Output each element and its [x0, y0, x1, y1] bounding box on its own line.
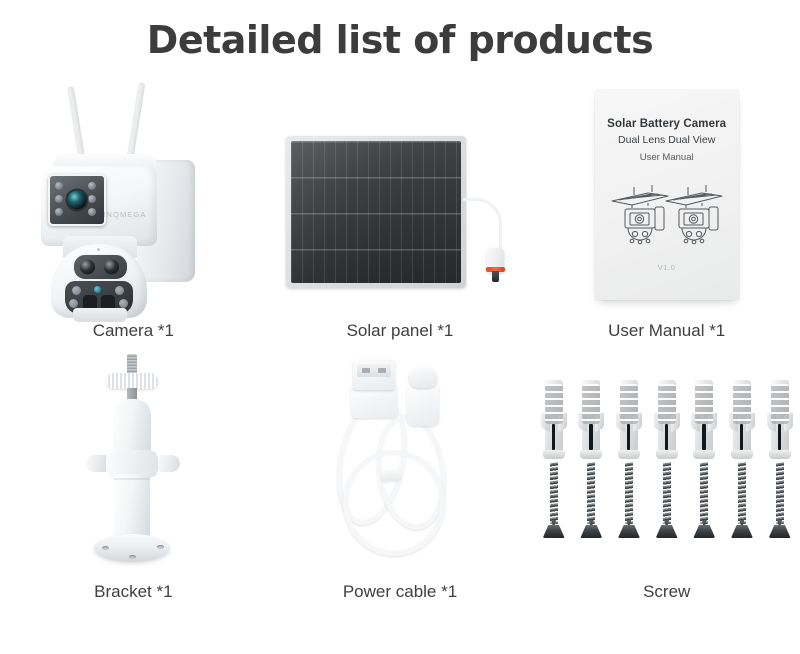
screw-shaft-icon — [776, 462, 784, 524]
anchor-ribs — [733, 384, 751, 424]
camera-status-dot-icon — [97, 248, 100, 251]
anchor-slot — [589, 424, 593, 450]
product-item-power-cable[interactable]: Power cable *1 — [267, 348, 534, 610]
bracket-mount-hole-icon — [157, 545, 164, 549]
anchor-collar — [656, 450, 678, 459]
anchor-collar — [693, 450, 715, 459]
ir-led-blue-icon — [94, 286, 101, 293]
screw-shaft-icon — [663, 462, 671, 524]
product-row-2: Bracket *1 Power cable *1 — [0, 348, 800, 610]
caption-power-cable: Power cable *1 — [343, 576, 457, 610]
screw-shaft-icon — [625, 462, 633, 524]
screw-head — [618, 525, 640, 538]
product-row-1: INQMEGA — [0, 78, 800, 348]
ir-led-icon — [88, 195, 96, 203]
screw-shaft-icon — [587, 462, 595, 524]
anchor-slot — [740, 424, 744, 450]
screw-unit — [654, 380, 680, 542]
screw-unit — [767, 380, 793, 542]
screw-unit — [578, 380, 604, 542]
bracket-mount-hole-icon — [102, 546, 109, 550]
camera-base — [73, 308, 127, 322]
product-item-solar-panel[interactable]: Solar panel *1 — [267, 78, 534, 348]
power-cable-illustration — [325, 354, 475, 564]
camera-lens-left-icon — [80, 260, 95, 275]
product-item-bracket[interactable]: Bracket *1 — [0, 348, 267, 610]
bracket-image — [0, 348, 267, 576]
user-manual-illustration: Solar Battery Camera Dual Lens Dual View… — [577, 90, 757, 312]
caption-user-manual: User Manual *1 — [608, 316, 725, 348]
anchor-collar — [580, 450, 602, 459]
anchor-collar — [618, 450, 640, 459]
manual-version-label: V1.0 — [595, 263, 739, 272]
manual-title-line3: User Manual — [640, 152, 694, 163]
bracket-illustration — [68, 354, 198, 566]
anchor-ribs — [771, 384, 789, 424]
ir-led-icon — [115, 286, 124, 295]
bracket-wing-knob-left — [86, 455, 108, 472]
anchor-slot — [627, 424, 631, 450]
manual-title-line1: Solar Battery Camera — [607, 118, 726, 130]
solar-panel-sheen — [291, 141, 461, 283]
bracket-seam — [114, 478, 150, 480]
cable-tie-band — [380, 469, 401, 482]
screw-shaft-icon — [700, 462, 708, 524]
anchor-collar — [769, 450, 791, 459]
camera-main-lens-icon — [68, 191, 87, 210]
bracket-mount-hole-icon — [129, 555, 136, 559]
screw-image — [533, 348, 800, 576]
product-item-screw[interactable]: Screw — [533, 348, 800, 610]
ir-led-icon — [88, 182, 96, 190]
ir-led-icon — [119, 299, 128, 308]
ir-led-icon — [55, 182, 63, 190]
anchor-slot — [702, 424, 706, 450]
screw-unit — [616, 380, 642, 542]
anchor-slot — [552, 424, 556, 450]
screw-shaft-icon — [550, 462, 558, 524]
ir-led-icon — [88, 208, 96, 216]
usb-a-connector-icon — [353, 360, 395, 390]
bracket-knurled-ring — [106, 373, 158, 389]
camera-illustration: INQMEGA — [33, 78, 233, 318]
usb-c-housing — [407, 384, 439, 426]
screw-head — [731, 525, 753, 538]
screw-head — [656, 525, 678, 538]
page-title: Detailed list of products — [0, 18, 800, 62]
screw-head — [693, 525, 715, 538]
bracket-column — [114, 474, 150, 540]
solar-camera-line-art-icon — [608, 179, 726, 251]
screw-unit — [729, 380, 755, 542]
screw-shaft-icon — [738, 462, 746, 524]
bracket-neck — [113, 399, 151, 455]
screw-head — [543, 525, 565, 538]
product-grid: INQMEGA — [0, 78, 800, 610]
product-item-user-manual[interactable]: Solar Battery Camera Dual Lens Dual View… — [533, 78, 800, 348]
anchor-slot — [665, 424, 669, 450]
caption-solar-panel: Solar panel *1 — [347, 316, 454, 348]
anchor-ribs — [658, 384, 676, 424]
bracket-wing-knob-right — [158, 455, 180, 472]
anchor-ribs — [695, 384, 713, 424]
solar-panel-illustration — [280, 136, 520, 306]
solar-panel-face — [291, 141, 461, 283]
camera-image: INQMEGA — [0, 78, 267, 316]
product-item-camera[interactable]: INQMEGA — [0, 78, 267, 348]
usb-a-contacts — [357, 364, 391, 377]
manual-title-line2: Dual Lens Dual View — [618, 134, 715, 146]
anchor-slot — [778, 424, 782, 450]
camera-upper-lens-panel — [48, 174, 106, 226]
solar-panel-cable — [463, 198, 502, 253]
ir-led-icon — [55, 195, 63, 203]
manual-cover-illustration — [608, 179, 726, 251]
anchor-ribs — [620, 384, 638, 424]
anchor-collar — [543, 450, 565, 459]
caption-bracket: Bracket *1 — [94, 576, 172, 610]
screw-head — [769, 525, 791, 538]
camera-brand-label: INQMEGA — [103, 210, 146, 219]
screw-head — [580, 525, 602, 538]
screw-unit — [541, 380, 567, 542]
ir-led-icon — [72, 286, 81, 295]
anchor-collar — [731, 450, 753, 459]
ir-led-icon — [69, 299, 78, 308]
cable-loop — [343, 450, 445, 556]
solar-panel-frame — [286, 136, 466, 288]
solar-panel-image — [267, 78, 534, 316]
power-cable-image — [267, 348, 534, 576]
ir-led-icon — [55, 208, 63, 216]
connector-barrel-tip-icon — [492, 271, 499, 282]
usb-c-connector-icon — [409, 368, 437, 388]
anchor-ribs — [545, 384, 563, 424]
user-manual-cover: Solar Battery Camera Dual Lens Dual View… — [595, 90, 739, 300]
camera-dual-lens-module — [73, 254, 128, 280]
screw-unit — [691, 380, 717, 542]
screw-set-illustration — [541, 380, 793, 548]
user-manual-image: Solar Battery Camera Dual Lens Dual View… — [533, 78, 800, 316]
caption-screw: Screw — [643, 576, 690, 610]
bracket-threaded-screw-icon — [127, 354, 137, 374]
anchor-ribs — [582, 384, 600, 424]
camera-lens-right-icon — [104, 260, 119, 275]
